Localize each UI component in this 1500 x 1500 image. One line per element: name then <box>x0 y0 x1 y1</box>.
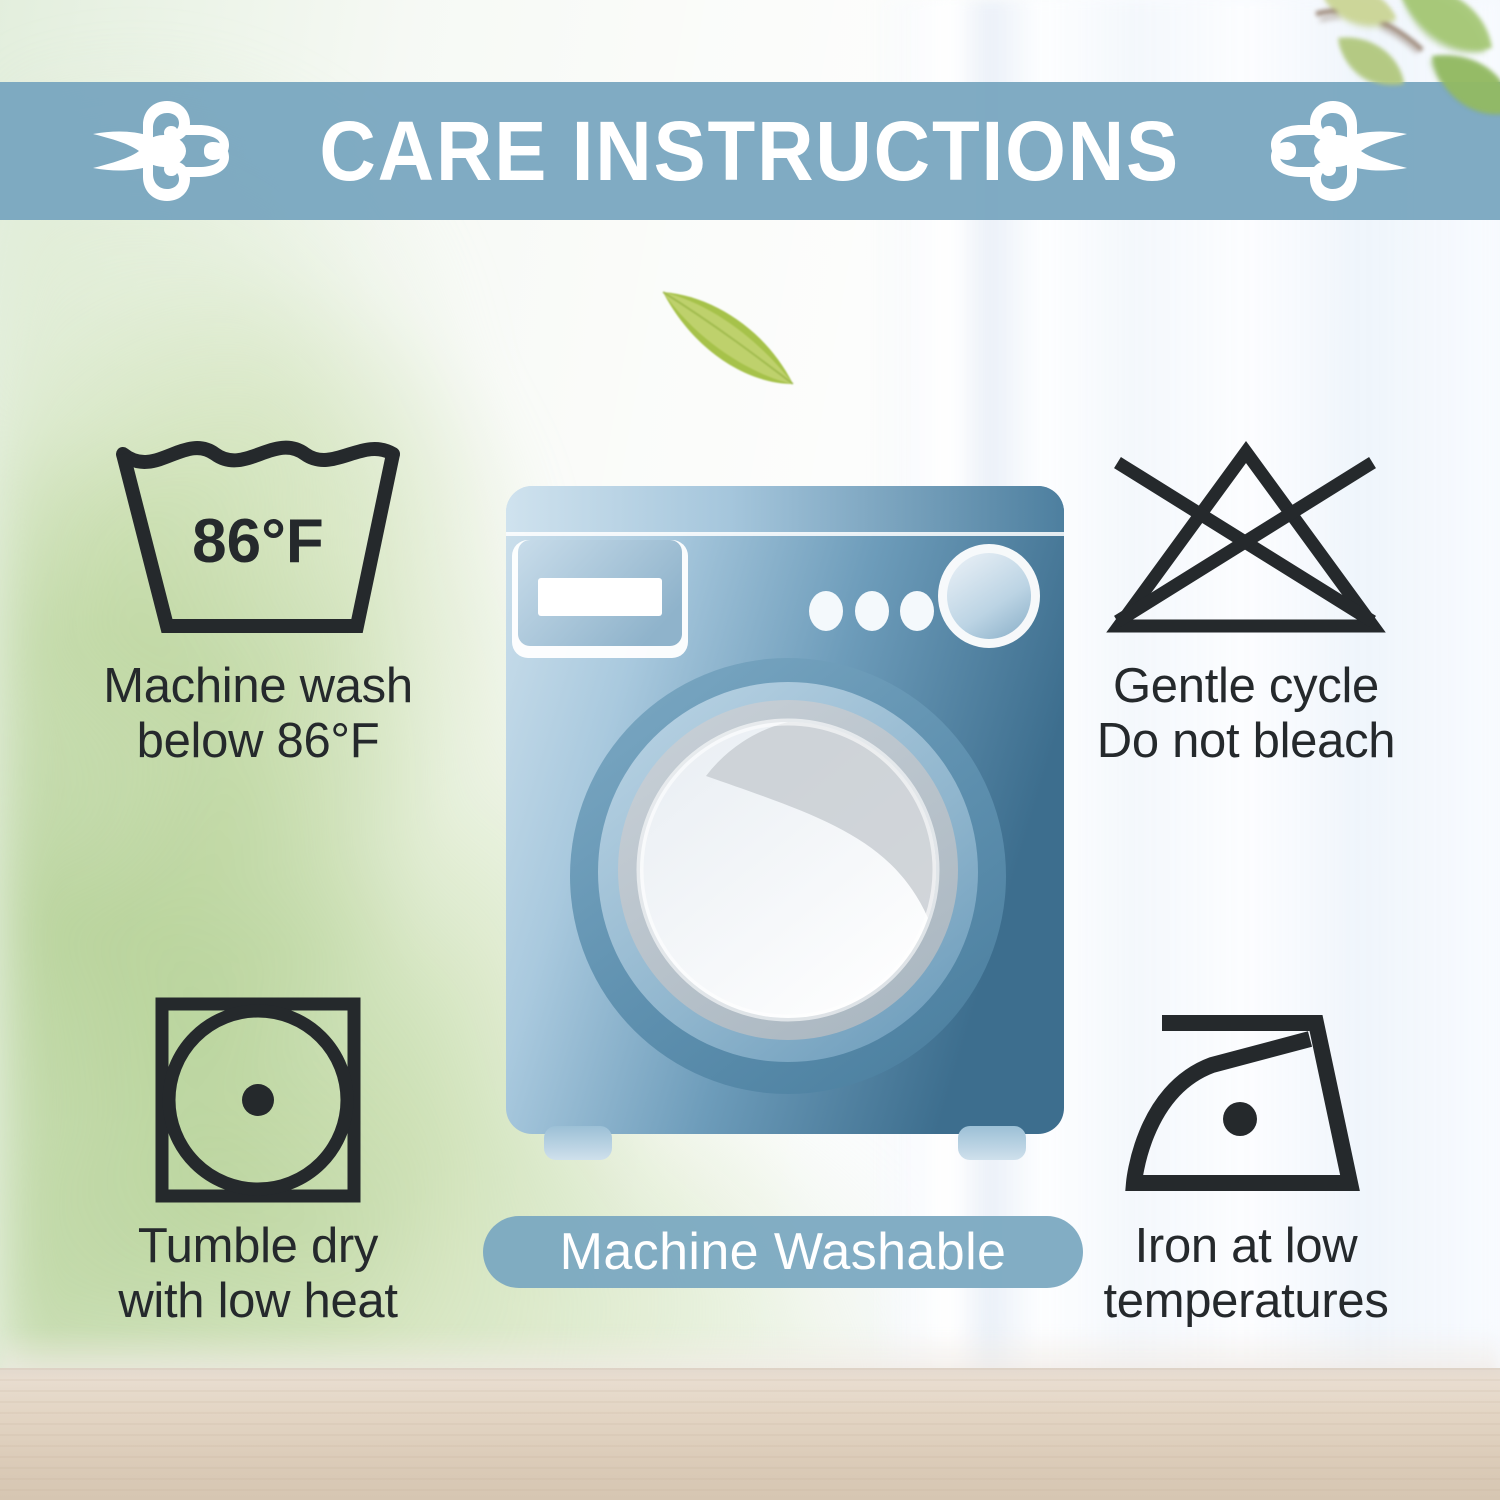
wash-tub-icon: 86°F <box>115 440 401 640</box>
crossed-triangle-icon <box>1101 440 1391 640</box>
wooden-table-surface <box>0 1368 1500 1500</box>
care-item-caption-gentle-cycle: Gentle cycle Do not bleach <box>1036 659 1456 770</box>
wash-temp-value: 86°F <box>192 507 324 576</box>
fleur-de-lis-icon-left <box>79 95 239 207</box>
care-item-iron-low: Iron at low temperatures <box>1036 992 1456 1330</box>
crossed-triangle-icon-wrapper <box>1036 432 1456 647</box>
care-item-caption-machine-wash: Machine wash below 86°F <box>48 659 468 770</box>
care-instructions-banner: CARE INSTRUCTIONS <box>0 82 1500 220</box>
iron-icon-wrapper <box>1036 992 1456 1207</box>
care-item-tumble-dry: Tumble dry with low heat <box>48 992 468 1330</box>
page-title: CARE INSTRUCTIONS <box>320 109 1181 193</box>
tumble-dry-square-icon <box>152 994 364 1206</box>
machine-washable-badge: Machine Washable <box>483 1216 1083 1288</box>
care-item-caption-iron: Iron at low temperatures <box>1036 1219 1456 1330</box>
tumble-dry-icon-wrapper <box>48 992 468 1207</box>
wash-tub-icon-wrapper: 86°F <box>48 432 468 647</box>
machine-washable-badge-label: Machine Washable <box>560 1226 1007 1278</box>
corner-foliage-icon <box>1280 0 1500 270</box>
care-item-gentle-cycle-no-bleach: Gentle cycle Do not bleach <box>1036 432 1456 770</box>
care-instructions-page: CARE INSTRUCTIONS <box>0 0 1500 1500</box>
iron-icon <box>1120 1005 1372 1195</box>
care-item-caption-tumble-dry: Tumble dry with low heat <box>48 1219 468 1330</box>
floating-leaf-icon <box>655 280 805 400</box>
care-item-machine-wash: 86°F Machine wash below 86°F <box>48 432 468 770</box>
washing-machine-illustration <box>500 478 1070 1188</box>
